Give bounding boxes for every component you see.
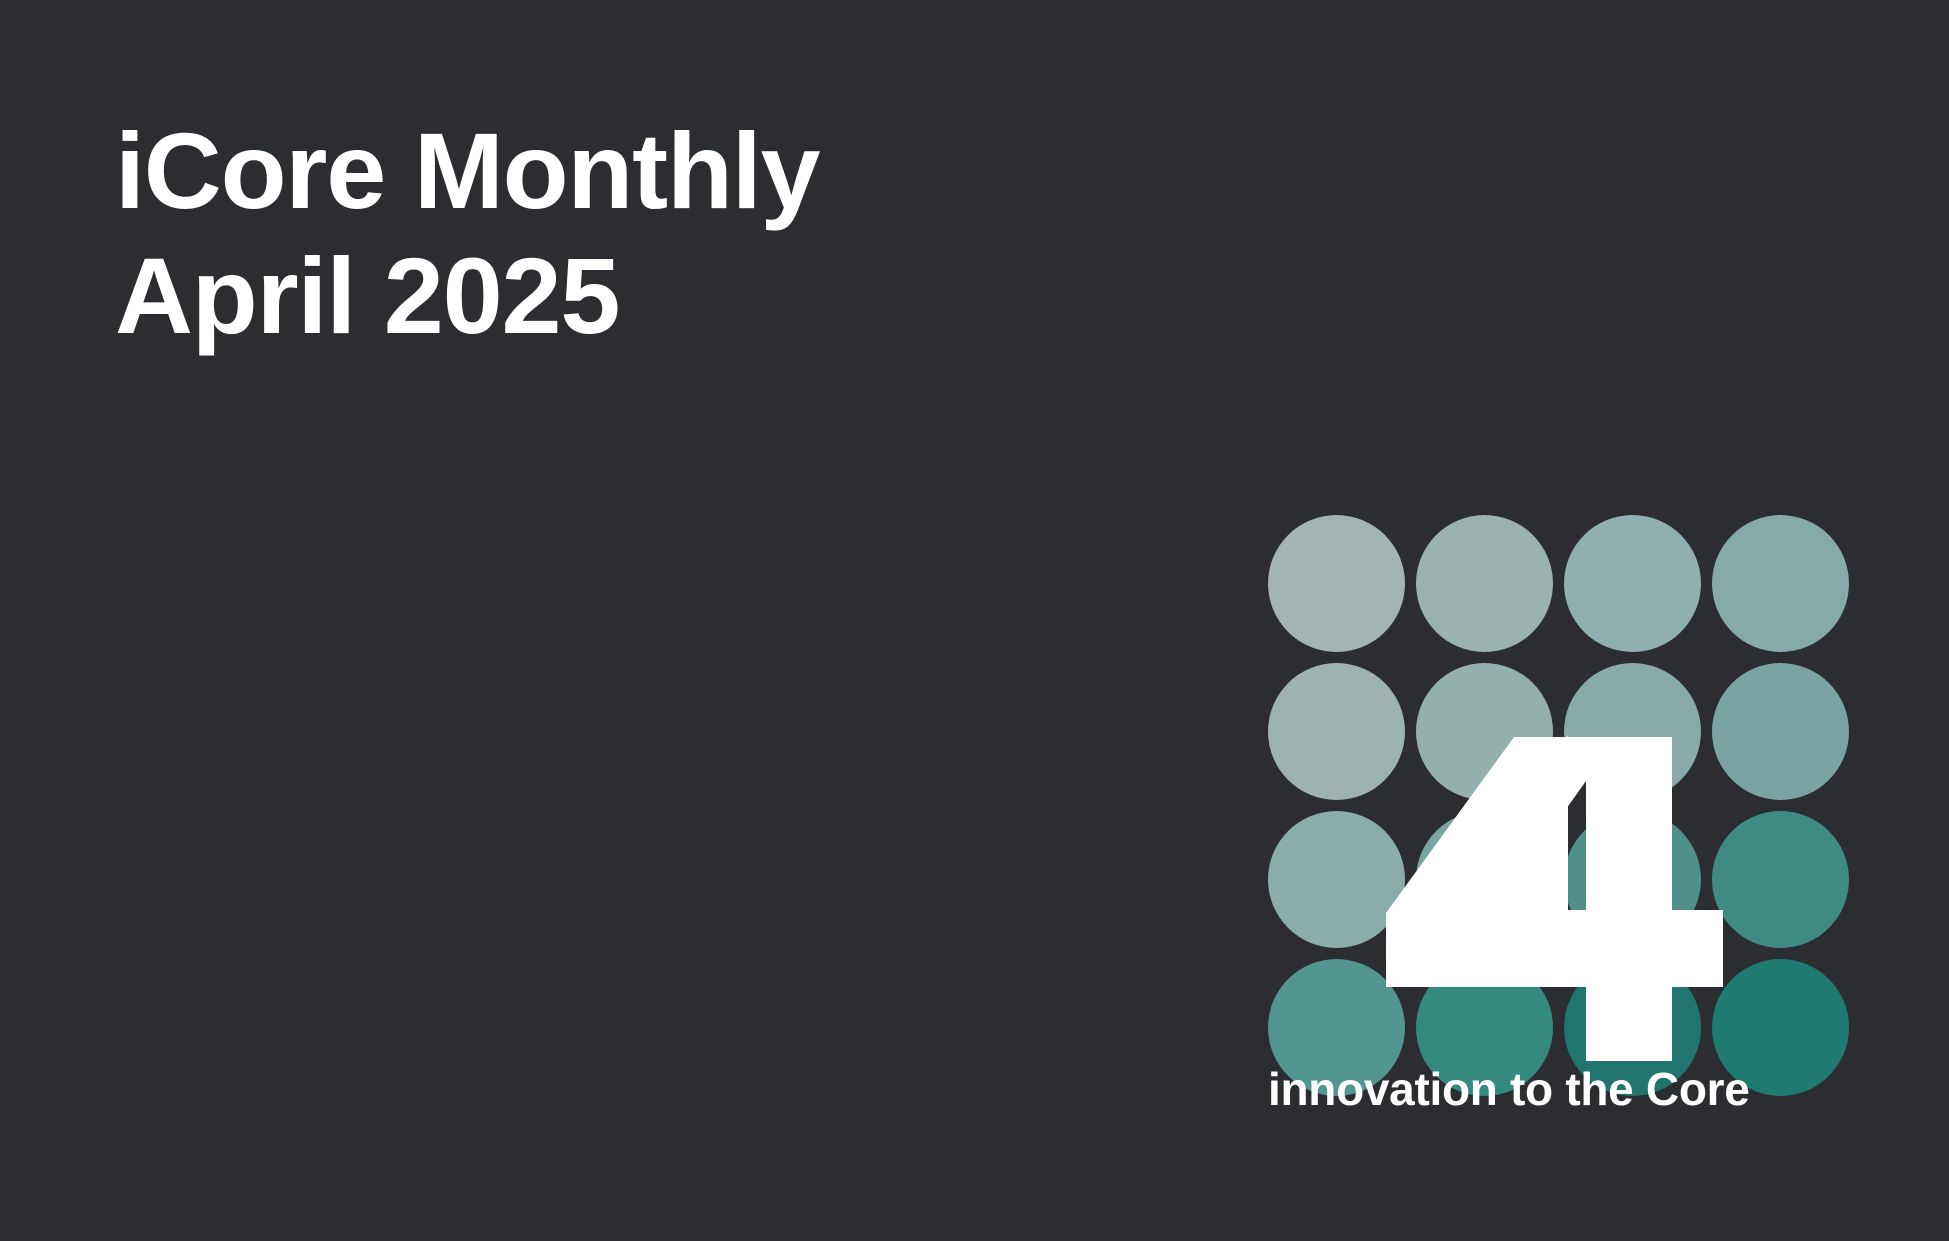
page-title: iCore Monthly April 2025 xyxy=(115,108,1115,359)
logo-dot-r3-c3 xyxy=(1564,811,1701,948)
logo-dot-r3-c1 xyxy=(1268,811,1405,948)
title-line-1: iCore Monthly xyxy=(115,108,1115,233)
logo-dot-r2-c4 xyxy=(1712,663,1849,800)
icore-logo xyxy=(1268,515,1816,1063)
logo-dot-r2-c3 xyxy=(1564,663,1701,800)
logo-dot-r1-c1 xyxy=(1268,515,1405,652)
logo-dot-r1-c4 xyxy=(1712,515,1849,652)
logo-dot-r3-c2 xyxy=(1416,811,1553,948)
title-slide: iCore Monthly April 2025 innovation to t… xyxy=(0,0,1949,1241)
logo-dot-r1-c2 xyxy=(1416,515,1553,652)
logo-dot-grid xyxy=(1268,515,1816,1063)
logo-dot-r3-c4 xyxy=(1712,811,1849,948)
logo-tagline: innovation to the Core xyxy=(1268,1062,1750,1116)
title-line-2: April 2025 xyxy=(115,233,1115,358)
logo-dot-r2-c2 xyxy=(1416,663,1553,800)
logo-dot-r1-c3 xyxy=(1564,515,1701,652)
logo-dot-r2-c1 xyxy=(1268,663,1405,800)
